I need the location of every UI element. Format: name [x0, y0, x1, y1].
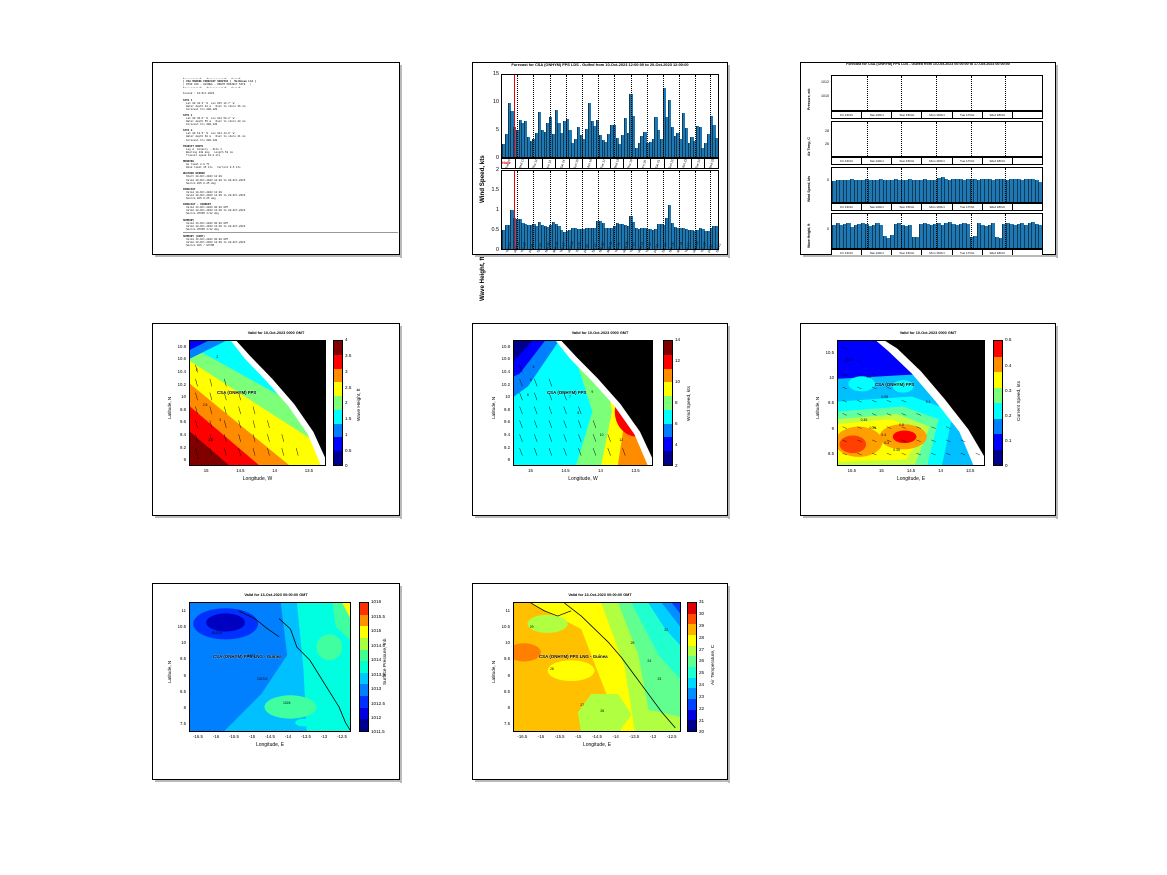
colorbar-tick-label: 0 [345, 463, 348, 468]
date-tick-cell: Wed 18Oct [983, 112, 1013, 118]
map-panel-air-temperature: Valid for 13-Oct-2023 00:00:00 GMTLatitu… [472, 583, 728, 780]
map-ytick-label: 10 [171, 640, 186, 645]
gridline [598, 171, 599, 249]
contour-label: 1022.5 [212, 631, 222, 635]
date-tick-cell: Wed 18 [611, 159, 625, 168]
map-xtick-label: 14.5 [554, 468, 578, 473]
map-x-axis-label: Longitude, W [513, 476, 653, 482]
colorbar-segment [688, 603, 696, 614]
colorbar-tick-label: 0.5 [1005, 337, 1011, 342]
date-tick-cell: Sat 14Oct [862, 158, 892, 164]
contour-label: 3 [219, 418, 221, 422]
contour-label: 2.5 [203, 403, 208, 407]
contour-label: 25 [631, 641, 635, 645]
contour-label: 2 [216, 355, 218, 359]
map-x-axis-label: Longitude, E [189, 742, 351, 748]
date-tick-label: Thu 12 [532, 158, 539, 169]
colorbar-segment [334, 341, 342, 355]
colorbar-tick-label: 4 [345, 337, 348, 342]
map-ytick-label: 10.2 [495, 382, 510, 387]
date-tick-cell: Fri 13Oct [832, 112, 862, 118]
contour-label: 0.45 [861, 418, 868, 422]
ytick-label: 5 [485, 127, 499, 133]
date-tick-cell: Tue 17Oct [953, 112, 983, 118]
wave-height-plot-area [501, 170, 719, 250]
contour-label: 0.1 [926, 400, 931, 404]
date-tick-label: Fri 20 [641, 159, 647, 168]
date-tick-cell: Sun 15Oct [892, 158, 922, 164]
map-ytick-label: 11 [171, 608, 186, 613]
colorbar-axis-label: Air Temperature, C [711, 645, 716, 685]
colorbar-tick-label: 31 [699, 599, 704, 604]
colorbar-tick-label: 4 [675, 442, 678, 447]
map-site-label: CSA (ONHYM) FPS LNG - Guinea [539, 654, 608, 659]
date-tick-cell: Tue 17 [597, 159, 611, 168]
report-divider [183, 232, 398, 233]
gridline [695, 75, 696, 157]
ytick-label: 1 [483, 207, 499, 213]
contour-label: 10 [600, 433, 604, 437]
contour-label: 7 [569, 395, 571, 399]
colorbar-tick-label: 21 [699, 718, 704, 723]
gridline [971, 168, 972, 202]
map-ytick-label: 10 [495, 640, 510, 645]
wave-height-axis-label: Wave Height, ft [479, 257, 486, 301]
date-tick-cell-pad [1013, 158, 1042, 164]
gridline [582, 75, 583, 157]
map-ytick-label: 10.2 [171, 382, 186, 387]
map-ytick-label: 10.8 [495, 344, 510, 349]
colorbar-segment [664, 451, 672, 465]
colorbar-segment [688, 614, 696, 625]
date-tick-label: Sun 22 [668, 158, 675, 169]
gridline [901, 76, 902, 110]
map-ytick-label: 10.6 [495, 356, 510, 361]
date-tick-cell: Fri 13 [543, 159, 557, 168]
ytick-label: 15 [485, 71, 499, 77]
map-ytick-label: 10.5 [171, 624, 186, 629]
map-panel-surface-pressure: Valid for 13-Oct-2023 00:00:00 GMTLatitu… [152, 583, 400, 780]
date-tick-cell: Tue 17Oct [953, 204, 983, 210]
map-title: Valid for 13-Oct-2023 00:00:00 GMT [473, 593, 727, 597]
colorbar-segment [360, 696, 368, 708]
map-x-axis-label: Longitude, E [837, 476, 985, 482]
ytick-label: 2 [483, 167, 499, 173]
report-line: Source HYCOM 1/12 deg [183, 228, 399, 231]
colorbar-tick-label: 2.5 [345, 385, 351, 390]
contour-label: 5 [530, 378, 532, 382]
date-tick-cell: Mon 16Oct [922, 158, 952, 164]
gridline [663, 171, 664, 249]
contour-label: 0.25 [870, 426, 877, 430]
map-site-label: CSA (ONHYM) FPS [547, 390, 586, 395]
gridline [936, 214, 937, 248]
ytick-label: 28 [813, 129, 829, 133]
date-tick-cell: Sat 14Oct [862, 204, 892, 210]
date-tick-label: Thu 19 [627, 158, 634, 169]
date-tick-cell: Sun 15Oct [892, 112, 922, 118]
subplot-y-axis-label: Wind Speed, kts [807, 176, 811, 202]
colorbar-tick-label: 1015 [371, 628, 381, 633]
bar [715, 138, 718, 157]
map-ytick-label: 10 [495, 394, 510, 399]
date-tick-label: Fri 13 [546, 159, 552, 168]
colorbar-tick-label: 2 [345, 400, 348, 405]
colorbar-segment [360, 650, 368, 662]
report-panel: +----------+ +-----------+ +----+| CSA M… [152, 62, 400, 255]
map-xtick-label: 15 [869, 468, 893, 473]
map-ytick-label: 8 [171, 705, 186, 710]
map-xtick-label: 14 [263, 468, 287, 473]
wind-speed-axis-label: Wind Speed, kts [479, 155, 486, 203]
colorbar-tick-label: 25 [699, 670, 704, 675]
gridline [936, 168, 937, 202]
date-tick-cell: Fri 20 [638, 159, 652, 168]
colorbar-segment [994, 388, 1002, 404]
contour-label: 0.35 [893, 448, 900, 452]
map-ytick-label: 9 [171, 457, 186, 462]
colorbar-tick-label: 0.1 [1005, 438, 1011, 443]
date-tick-label: Mon 16 [586, 158, 593, 169]
contour-label: 24 [647, 659, 651, 663]
colorbar-segment [334, 369, 342, 383]
date-tick-cell: Thu 19 [624, 159, 638, 168]
gridline [550, 171, 551, 249]
subplot-plot-area [831, 167, 1043, 203]
date-tick-cell: Mon 16Oct [922, 112, 952, 118]
gridline [550, 75, 551, 157]
ytick-label: 1.5 [483, 187, 499, 193]
colorbar-segment [994, 434, 1002, 450]
date-tick-strip: Fri 13OctSat 14OctSun 15OctMon 16OctTue … [831, 203, 1043, 211]
colorbar-axis-label: Wind Speed, kts [687, 386, 692, 421]
colorbar-segment [360, 719, 368, 731]
map-ytick-label: 9.6 [495, 419, 510, 424]
colorbar-segment [360, 603, 368, 615]
map-ytick-label: 10 [171, 394, 186, 399]
contour-label: 0.5 [899, 423, 904, 427]
gridline [695, 171, 696, 249]
subplot-plot-area [831, 75, 1043, 111]
colorbar-tick-label: 1014 [371, 657, 381, 662]
map-ytick-label: 10.8 [171, 344, 186, 349]
colorbar-axis-label: Surface Pressure, mb [383, 639, 388, 685]
ytick-label: 5 [813, 227, 829, 231]
map-title: Valid for 13-Oct-2023 00:00:00 GMT [153, 593, 399, 597]
colorbar-tick-label: 1012 [371, 715, 381, 720]
colorbar-tick-label: 28 [699, 635, 704, 640]
map-xtick-label: 13.5 [297, 468, 321, 473]
gridline [566, 75, 567, 157]
date-tick-cell: Mon 16Oct [922, 204, 952, 210]
colorbar-segment [334, 451, 342, 465]
map-ytick-label: 7.5 [495, 721, 510, 726]
map-xtick-label: 14 [589, 468, 613, 473]
colorbar-segment [688, 635, 696, 646]
colorbar-segment [664, 382, 672, 396]
gridline [867, 214, 868, 248]
colorbar-tick-label: 0.2 [1005, 413, 1011, 418]
map-panel-wave-height: Valid for 10-Oct-2023 0000 GMTLatitude, … [152, 323, 400, 516]
colorbar-tick-label: 1.5 [345, 416, 351, 421]
colorbar-tick-label: 14 [675, 337, 680, 342]
colorbar-segment [688, 678, 696, 689]
map-ytick-label: 10.5 [819, 350, 834, 355]
map-xtick-label: -12.5 [660, 734, 684, 739]
colorbar-segment [994, 341, 1002, 357]
date-tick-cell: Wed 11 [516, 159, 530, 168]
map-title: Valid for 10-Oct-2023 0000 GMT [473, 331, 727, 335]
gridline [533, 75, 534, 157]
ytick-label: 0.5 [483, 227, 499, 233]
map-panel-wind-speed: Valid for 10-Oct-2023 0000 GMTLatitude, … [472, 323, 728, 516]
gridline [901, 122, 902, 156]
colorbar-tick-label: 27 [699, 647, 704, 652]
map-ytick-label: 8.5 [171, 689, 186, 694]
contour-label: 1023 [247, 654, 255, 658]
colorbar-tick-label: 3 [345, 369, 348, 374]
date-tick-strip: Fri 13OctSat 14OctSun 15OctMon 16OctTue … [831, 111, 1043, 119]
gridline [867, 168, 868, 202]
gridline [598, 75, 599, 157]
contour-label: 28 [550, 667, 554, 671]
bar [1038, 225, 1042, 248]
colorbar-segment [688, 688, 696, 699]
ytick-label: 0 [485, 155, 499, 161]
contour-label: 9 [591, 390, 593, 394]
now-marker-label: Now [502, 160, 510, 165]
colorbar-segment [334, 396, 342, 410]
contour-label: 29 [530, 625, 534, 629]
map-xtick-label: 15.5 [840, 468, 864, 473]
map-ytick-label: 9.6 [171, 419, 186, 424]
map-colorbar [333, 340, 343, 466]
ytick-label: 0 [483, 247, 499, 253]
subplot-y-axis-label: Wave Height, ft [807, 224, 811, 248]
date-tick-cell-pad [1013, 204, 1042, 210]
map-ytick-label: 10.4 [495, 369, 510, 374]
bar [1038, 182, 1042, 202]
map-xtick-label: 14.5 [228, 468, 252, 473]
colorbar-tick-label: 10 [675, 379, 680, 384]
subplot-plot-area [831, 213, 1043, 249]
report-line: Source GFS / HYCOM [183, 244, 399, 247]
gridline [867, 122, 868, 156]
date-tick-label: Tue 17 [600, 158, 607, 169]
contour-label: 0.05 [881, 395, 888, 399]
date-tick-cell: Sat 21 [651, 159, 665, 168]
map-site-label: CSA (ONHYM) FPS [875, 382, 914, 387]
colorbar-segment [688, 656, 696, 667]
map-ytick-label: 9.8 [171, 407, 186, 412]
gridline [663, 75, 664, 157]
colorbar-segment [360, 626, 368, 638]
map-xtick-label: 13.5 [958, 468, 982, 473]
date-tick-label: Wed 25 [708, 158, 715, 170]
colorbar-tick-label: 20 [699, 729, 704, 734]
date-tick-cell: Sat 14 [556, 159, 570, 168]
gridline [679, 75, 680, 157]
map-ytick-label: 9.2 [171, 445, 186, 450]
date-tick-label: Sun 15 [573, 158, 580, 169]
map-colorbar [663, 340, 673, 466]
date-tick-cell-pad [1013, 112, 1042, 118]
colorbar-segment [994, 450, 1002, 466]
date-tick-cell: Sun 22 [665, 159, 679, 168]
colorbar-segment [334, 382, 342, 396]
subplot-plot-area [831, 121, 1043, 157]
colorbar-segment [688, 710, 696, 721]
colorbar-tick-label: 0 [1005, 463, 1008, 468]
colorbar-segment [360, 708, 368, 720]
colorbar-axis-label: Current Speed, kts [1017, 381, 1022, 421]
map-plot-area [189, 340, 326, 466]
contour-label: 1024 [283, 701, 291, 705]
contour-label: 0.4 [881, 433, 886, 437]
colorbar-tick-label: 0.3 [1005, 388, 1011, 393]
now-marker-line [514, 75, 515, 157]
contour-label: 0.15 [846, 358, 853, 362]
colorbar-segment [334, 355, 342, 369]
map-ytick-label: 9.5 [171, 656, 186, 661]
contour-label: 27 [580, 703, 584, 707]
contour-label: 1023.5 [257, 677, 267, 681]
date-tick-cell: Wed 18Oct [983, 158, 1013, 164]
colorbar-segment [664, 341, 672, 355]
colorbar-tick-label: 1016 [371, 599, 381, 604]
colorbar-segment [664, 355, 672, 369]
map-ytick-label: 9.4 [171, 432, 186, 437]
timeseries-wind-wave-panel: Forecast for CSA (ONHYM) FPS LDS - Gulfe… [472, 62, 728, 255]
colorbar-tick-label: 30 [699, 611, 704, 616]
colorbar-tick-label: 0.4 [1005, 363, 1011, 368]
map-panel-current-speed: Valid for 10-Oct-2023 0000 GMTLatitude, … [800, 323, 1056, 516]
date-tick-cell: Tue 24 [692, 159, 706, 168]
contour-label: 6 [527, 393, 529, 397]
map-ytick-label: 9 [171, 673, 186, 678]
map-ytick-label: 8.5 [819, 451, 834, 456]
gridline [614, 171, 615, 249]
wind-speed-plot-area [501, 74, 719, 158]
report-text-block: +----------+ +-----------+ +----+| CSA M… [183, 77, 399, 247]
gridline [1005, 122, 1006, 156]
gridline [901, 214, 902, 248]
colorbar-segment [334, 437, 342, 451]
colorbar-tick-label: 29 [699, 623, 704, 628]
gridline [971, 76, 972, 110]
gridline [936, 76, 937, 110]
colorbar-tick-label: 22 [699, 706, 704, 711]
contour-label: 23 [657, 677, 661, 681]
timeseries-wind-wave-title: Forecast for CSA (ONHYM) FPS LDS - Gulfe… [473, 62, 727, 67]
gridline [647, 171, 648, 249]
date-tick-label: Sat 21 [654, 158, 661, 168]
map-title: Valid for 10-Oct-2023 0000 GMT [153, 331, 399, 335]
colorbar-segment [664, 437, 672, 451]
colorbar-segment [664, 369, 672, 383]
map-plot-area [513, 602, 681, 732]
map-ytick-label: 10.5 [495, 624, 510, 629]
date-tick-cell: Mon 16 [583, 159, 597, 168]
colorbar-segment [334, 424, 342, 438]
gridline [647, 75, 648, 157]
gridline [971, 214, 972, 248]
map-x-axis-label: Longitude, W [189, 476, 326, 482]
now-marker-line [514, 171, 515, 249]
ytick-label: 26 [813, 142, 829, 146]
date-tick-cell: Wed 25 [705, 159, 718, 168]
colorbar-segment [334, 410, 342, 424]
date-tick-cell: Tue 17Oct [953, 158, 983, 164]
colorbar-tick-label: 26 [699, 658, 704, 663]
colorbar-tick-label: 12 [675, 358, 680, 363]
ytick-label: 1010 [813, 94, 829, 98]
date-tick-cell: Sat 14Oct [862, 112, 892, 118]
gridline [710, 75, 711, 157]
colorbar-segment [688, 646, 696, 657]
gridline [517, 75, 518, 157]
contour-label: 14 [633, 416, 637, 420]
colorbar-tick-label: 1011.5 [371, 729, 385, 734]
timeseries-four-panel-title: Forecast for CSA (ONHYM) FPS LDS - Gulfe… [801, 62, 1055, 66]
date-tick-cell: Sun 15Oct [892, 204, 922, 210]
colorbar-segment [688, 699, 696, 710]
gridline [1005, 168, 1006, 202]
colorbar-segment [664, 396, 672, 410]
map-ytick-label: 9.2 [495, 445, 510, 450]
map-xtick-label: 13.5 [624, 468, 648, 473]
map-ytick-label: 8.5 [495, 689, 510, 694]
map-ytick-label: 9.8 [495, 407, 510, 412]
gridline [582, 171, 583, 249]
date-tick-cell: Fri 13Oct [832, 204, 862, 210]
map-xtick-label: -12.5 [330, 734, 354, 739]
gridline [679, 171, 680, 249]
subplot-y-axis-label: Air Temp, C [807, 137, 811, 156]
map-plot-area [189, 602, 351, 732]
gridline [566, 171, 567, 249]
map-colorbar [993, 340, 1003, 466]
colorbar-tick-label: 23 [699, 694, 704, 699]
map-title: Valid for 10-Oct-2023 0000 GMT [801, 331, 1055, 335]
colorbar-segment [360, 684, 368, 696]
map-x-axis-label: Longitude, E [513, 742, 681, 748]
map-ytick-label: 8 [495, 705, 510, 710]
colorbar-tick-label: 1013 [371, 686, 381, 691]
ytick-label: 10 [485, 99, 499, 105]
map-ytick-label: 9 [495, 673, 510, 678]
map-ytick-label: 7.5 [171, 721, 186, 726]
date-tick-cell: Wed 18Oct [983, 204, 1013, 210]
map-plot-area [837, 340, 985, 466]
colorbar-tick-label: 2 [675, 463, 678, 468]
date-tick-strip: Fri 13OctSat 14OctSun 15OctMon 16OctTue … [831, 157, 1043, 165]
colorbar-segment [360, 661, 368, 673]
gridline [971, 122, 972, 156]
gridline [631, 171, 632, 249]
timeseries-four-panel: Forecast for CSA (ONHYM) FPS LDS - Gulfe… [800, 62, 1056, 255]
date-tick-label: Wed 18 [613, 158, 620, 170]
contour-label: 0.3 [884, 441, 889, 445]
date-tick-cell: Thu 12 [529, 159, 543, 168]
date-tick-cell: Sun 15 [570, 159, 584, 168]
gridline [901, 168, 902, 202]
colorbar-segment [994, 403, 1002, 419]
colorbar-tick-label: 1012.5 [371, 701, 385, 706]
date-tick-label: Mon 23 [681, 158, 688, 169]
map-ytick-label: 9 [495, 457, 510, 462]
map-site-label: CSA (ONHYM) FPS [217, 390, 256, 395]
